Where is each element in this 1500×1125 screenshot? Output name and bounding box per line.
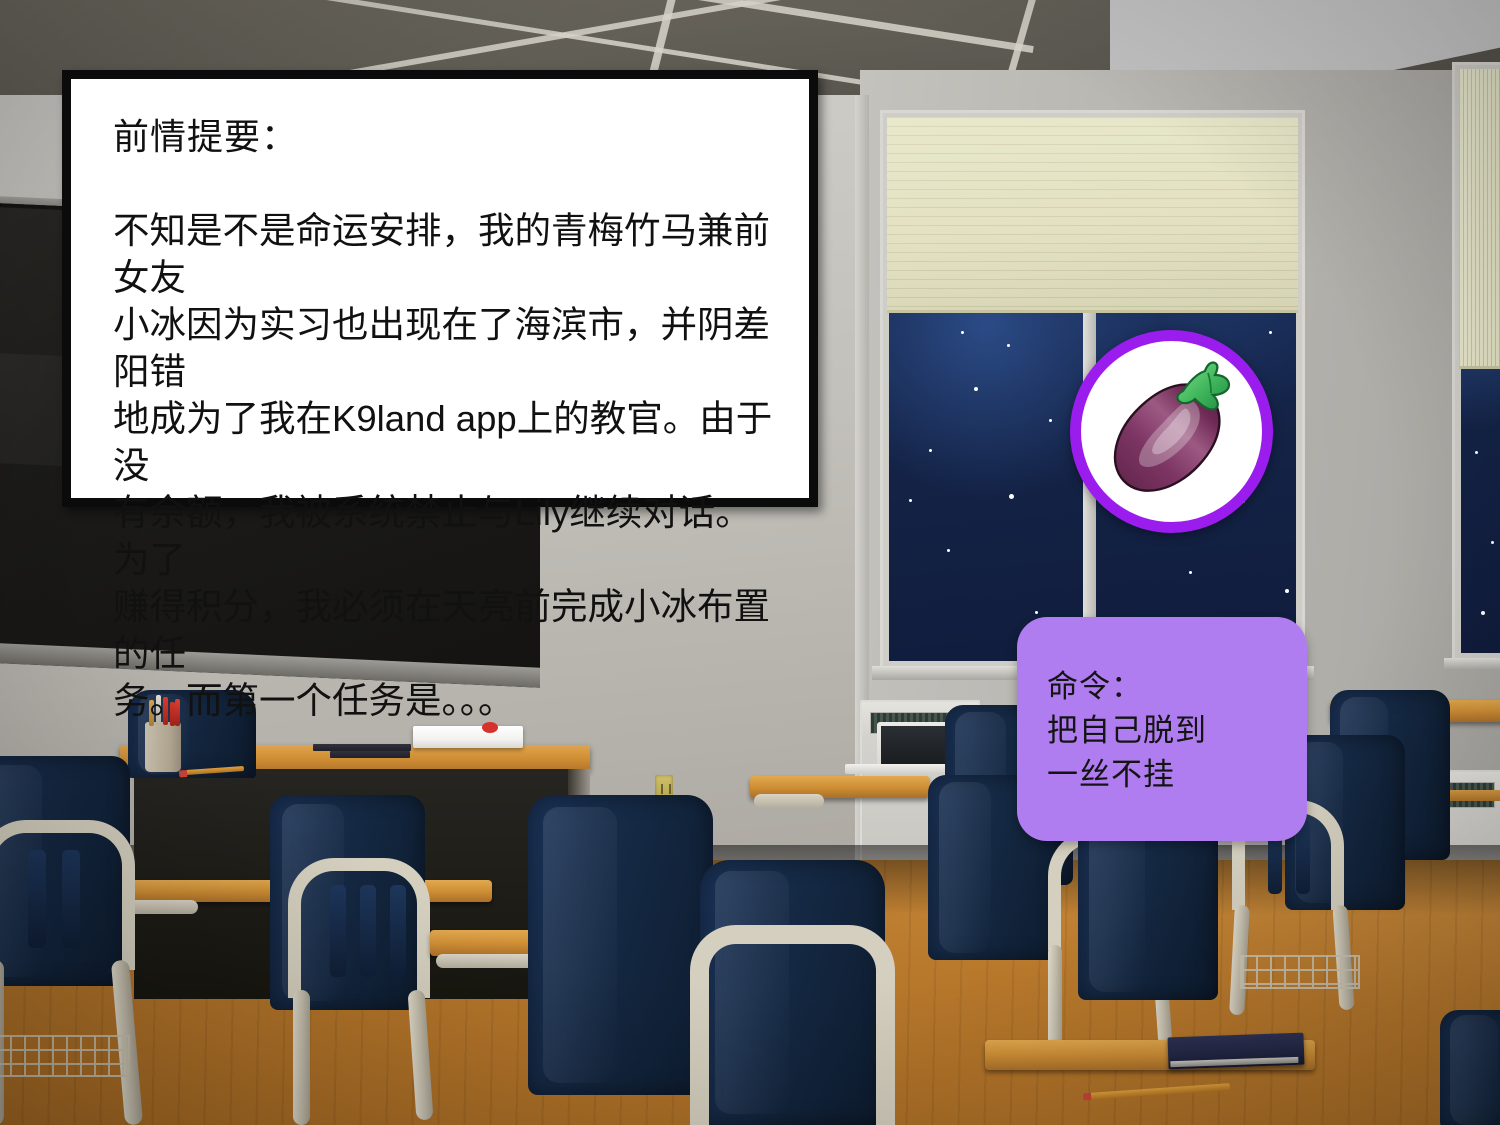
chair-slat <box>62 850 80 948</box>
desk-basket <box>0 1035 130 1077</box>
chair-front-right <box>1440 1010 1500 1125</box>
desk-basket <box>1240 955 1360 989</box>
window-blind-left[interactable] <box>887 117 1298 313</box>
chair-leg <box>1048 945 1062 1050</box>
laptop-base <box>845 764 957 774</box>
desk-folder-2 <box>330 751 410 758</box>
chair-slat <box>28 850 46 948</box>
window-blind-right[interactable] <box>1459 69 1500 369</box>
chair-slat <box>330 885 346 977</box>
command-text: 命令： 把自己脱到 一丝不挂 <box>1017 617 1307 797</box>
chair-slat <box>390 885 406 977</box>
notebook <box>1167 1033 1304 1070</box>
window-right <box>1452 62 1500 662</box>
narration-title: 前情提要： <box>113 117 775 157</box>
command-bubble: 命令： 把自己脱到 一丝不挂 <box>1017 617 1307 841</box>
chair-leg <box>293 990 310 1125</box>
chair-center-front <box>528 795 713 1095</box>
eggplant-badge <box>1070 330 1273 533</box>
chair-frame-left-mid <box>288 858 430 998</box>
window-sill-right <box>1444 658 1500 670</box>
scene-root: 前情提要： 不知是不是命运安排，我的青梅竹马兼前女友 小冰因为实习也出现在了海滨… <box>0 0 1500 1125</box>
pencil-cup <box>145 722 181 772</box>
narration-panel: 前情提要： 不知是不是命运安排，我的青梅竹马兼前女友 小冰因为实习也出现在了海滨… <box>62 70 818 507</box>
red-marker <box>482 722 498 733</box>
desk-folder <box>313 744 411 751</box>
chair-slat <box>360 885 376 977</box>
student-desk-laptop <box>750 776 930 796</box>
narration-body: 不知是不是命运安排，我的青梅竹马兼前女友 小冰因为实习也出现在了海滨市，并阴差阳… <box>113 207 775 724</box>
chair-frame-center-front-2 <box>690 925 895 1125</box>
paper-stack <box>413 726 523 748</box>
